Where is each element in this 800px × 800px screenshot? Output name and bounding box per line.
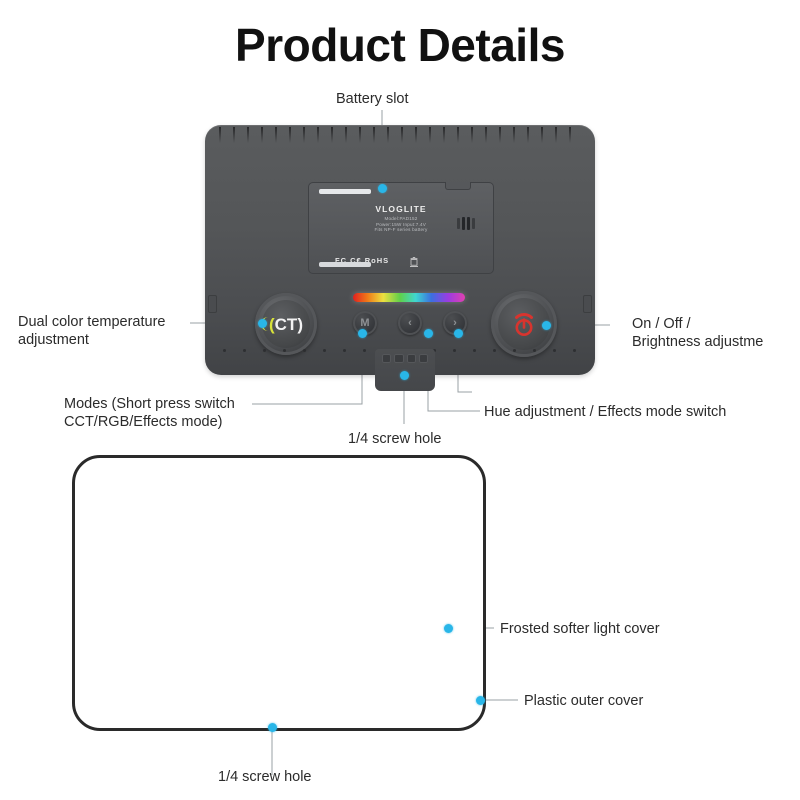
dot-frosted-cover: [444, 624, 453, 633]
page-title: Product Details: [0, 18, 800, 72]
brand-label: VLOGLITE: [309, 204, 493, 214]
dot-screw-hole-device: [400, 371, 409, 380]
hue-down-button[interactable]: ‹: [398, 311, 422, 335]
callout-modes: Modes (Short press switch CCT/RGB/Effect…: [64, 395, 264, 431]
dot-hue-up: [454, 329, 463, 338]
dot-hue-down: [424, 329, 433, 338]
battery-rail-top: [319, 189, 371, 194]
dot-battery-slot: [378, 184, 387, 193]
heatsink-fins: [219, 127, 581, 143]
power-icon: [509, 309, 539, 339]
side-notch-right: [583, 295, 592, 313]
dot-plastic-cover: [476, 696, 485, 705]
callout-hue-effects: Hue adjustment / Effects mode switch: [484, 403, 726, 421]
battery-release-tab[interactable]: [445, 182, 471, 190]
weee-bin-icon: [410, 257, 418, 267]
dot-screw-hole-panel: [268, 723, 277, 732]
dot-power-knob: [542, 321, 551, 330]
callout-plastic-cover: Plastic outer cover: [524, 692, 643, 710]
battery-contacts: [457, 217, 481, 230]
callout-battery-slot: Battery slot: [336, 90, 409, 108]
ct-knob-face: (CT): [262, 300, 310, 348]
dot-mode-button: [358, 329, 367, 338]
mount-bracket: [375, 349, 435, 391]
side-notch-left: [208, 295, 217, 313]
battery-slot-plate[interactable]: VLOGLITE Model:PAD152 Power:15W Input:7.…: [308, 182, 494, 274]
bracket-slots: [382, 354, 428, 363]
rgb-indicator-strip: [353, 293, 465, 302]
callout-screw-hole-panel: 1/4 screw hole: [218, 768, 312, 786]
led-panel-back: VLOGLITE Model:PAD152 Power:15W Input:7.…: [205, 125, 595, 375]
callout-frosted-cover: Frosted softer light cover: [500, 620, 660, 638]
dot-ct-knob: [258, 319, 267, 328]
callout-dual-color-temperature: Dual color temperature adjustment: [18, 313, 193, 349]
product-details-diagram: Product Details: [0, 0, 800, 800]
battery-rail-bottom: [319, 262, 371, 267]
diffuser-panel-front: [72, 455, 486, 731]
ct-knob-label: (CT): [269, 316, 303, 333]
callout-screw-hole-device: 1/4 screw hole: [348, 430, 442, 448]
callout-on-off-brightness: On / Off / Brightness adjustme: [632, 315, 800, 351]
